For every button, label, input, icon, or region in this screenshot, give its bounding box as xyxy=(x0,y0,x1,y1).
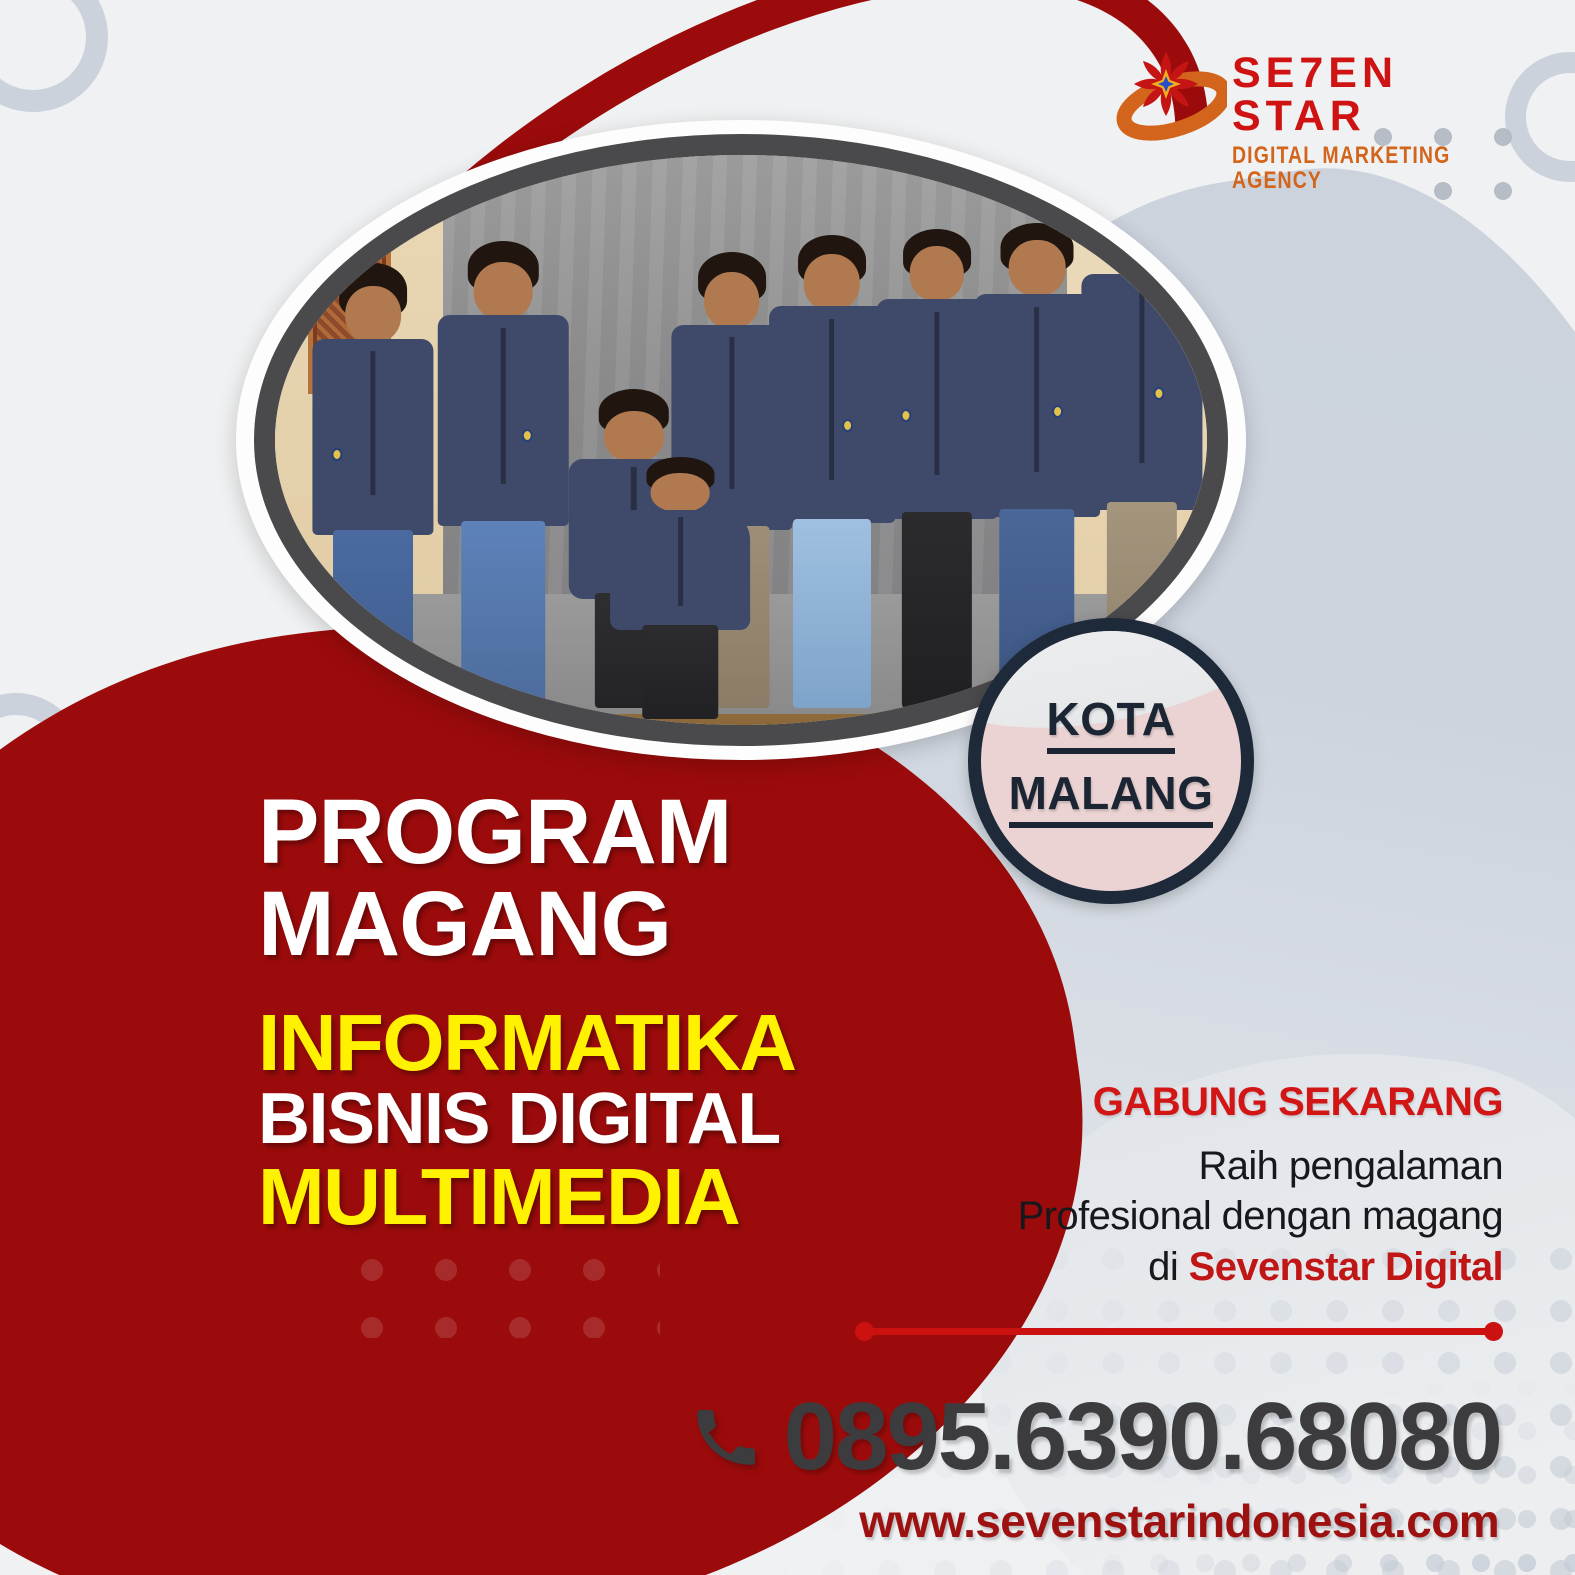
cta-heading: GABUNG SEKARANG xyxy=(863,1080,1503,1125)
phone-handset-icon xyxy=(692,1401,758,1473)
headline-line-magang: MAGANG xyxy=(258,880,898,968)
photo-person xyxy=(312,263,433,708)
red-divider-line xyxy=(855,1322,1503,1340)
headline-line-informatika: INFORMATIKA xyxy=(258,1005,898,1082)
badge-line-malang: MALANG xyxy=(1009,768,1214,828)
cta-body-line-1: Raih pengalaman xyxy=(863,1141,1503,1191)
logo-name: SE7EN STAR xyxy=(1232,52,1512,138)
headline-block: PROGRAM MAGANG INFORMATIKA BISNIS DIGITA… xyxy=(258,788,898,1235)
headline-line-program: PROGRAM xyxy=(258,788,898,876)
cta-body-line-3: di Sevenstar Digital xyxy=(863,1242,1503,1292)
cta-body: Raih pengalaman Profesional dengan magan… xyxy=(863,1141,1503,1292)
cta-body-line-2: Profesional dengan magang xyxy=(863,1191,1503,1241)
star-burst-icon xyxy=(1112,44,1227,144)
kota-malang-badge: KOTA MALANG xyxy=(968,618,1254,904)
photo-person xyxy=(438,241,568,708)
divider-cap-right xyxy=(1484,1322,1503,1341)
poster-canvas: KOTA MALANG SE7EN ST xyxy=(0,0,1575,1575)
cta-brand-name: Sevenstar Digital xyxy=(1189,1245,1503,1289)
headline-line-multimedia: MULTIMEDIA xyxy=(258,1159,898,1236)
phone-number: 0895.6390.68080 xyxy=(784,1382,1501,1492)
photo-person-crouching xyxy=(611,457,751,719)
website-url[interactable]: www.sevenstarindonesia.com xyxy=(859,1494,1499,1548)
logo-wordmark: SE7EN STAR DIGITAL MARKETING AGENCY xyxy=(1232,52,1512,183)
headline-line-bisnis-digital: BISNIS DIGITAL xyxy=(258,1085,898,1154)
phone-contact-row[interactable]: 0895.6390.68080 xyxy=(692,1382,1501,1492)
cta-body-prefix: di xyxy=(1148,1245,1188,1289)
badge-line-kota: KOTA xyxy=(1047,694,1176,754)
logo-tagline: DIGITAL MARKETING AGENCY xyxy=(1232,144,1512,193)
divider-bar xyxy=(865,1328,1493,1335)
decorative-ring-top-left xyxy=(0,0,108,112)
company-logo[interactable]: SE7EN STAR DIGITAL MARKETING AGENCY xyxy=(1112,40,1512,150)
cta-block: GABUNG SEKARANG Raih pengalaman Profesio… xyxy=(863,1080,1503,1292)
